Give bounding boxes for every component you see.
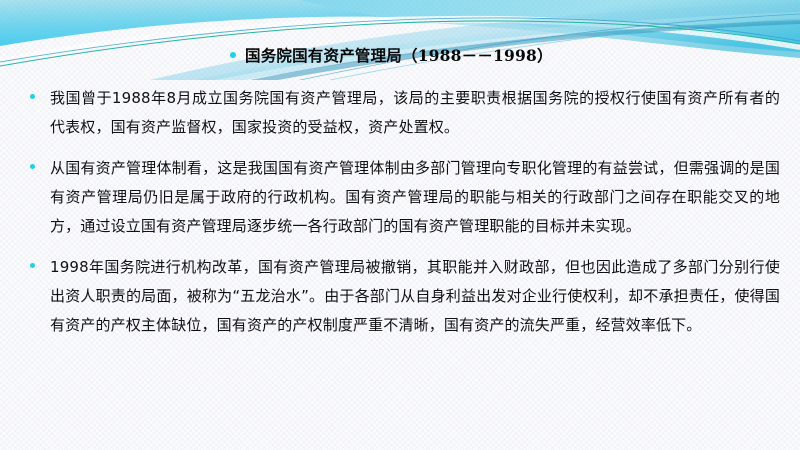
bullet-dot-icon: [30, 94, 35, 99]
bullet-dot-icon: [30, 164, 35, 169]
bullet-dot-icon: [230, 52, 236, 58]
bullet-dot-icon: [30, 263, 35, 268]
body-paragraph-list: 我国曾于1988年8月成立国务院国有资产管理局，该局的主要职责根据国务院的授权行…: [30, 84, 780, 352]
slide-title: 国务院国有资产管理局（1988－－1998）: [230, 44, 553, 66]
slide-title-text: 国务院国有资产管理局（1988－－1998）: [245, 44, 553, 66]
bullet-marker: [30, 154, 50, 169]
bullet-marker: [30, 84, 50, 99]
presentation-slide: 国务院国有资产管理局（1988－－1998） 我国曾于1988年8月成立国务院国…: [0, 0, 800, 450]
slide-content: 国务院国有资产管理局（1988－－1998） 我国曾于1988年8月成立国务院国…: [0, 0, 800, 450]
list-item: 我国曾于1988年8月成立国务院国有资产管理局，该局的主要职责根据国务院的授权行…: [30, 84, 780, 142]
list-item: 1998年国务院进行机构改革，国有资产管理局被撤销，其职能并入财政部，但也因此造…: [30, 253, 780, 340]
paragraph-text: 从国有资产管理体制看，这是我国国有资产管理体制由多部门管理向专职化管理的有益尝试…: [50, 154, 780, 241]
list-item: 从国有资产管理体制看，这是我国国有资产管理体制由多部门管理向专职化管理的有益尝试…: [30, 154, 780, 241]
paragraph-text: 1998年国务院进行机构改革，国有资产管理局被撤销，其职能并入财政部，但也因此造…: [50, 253, 780, 340]
bullet-marker: [30, 253, 50, 268]
paragraph-text: 我国曾于1988年8月成立国务院国有资产管理局，该局的主要职责根据国务院的授权行…: [50, 84, 780, 142]
